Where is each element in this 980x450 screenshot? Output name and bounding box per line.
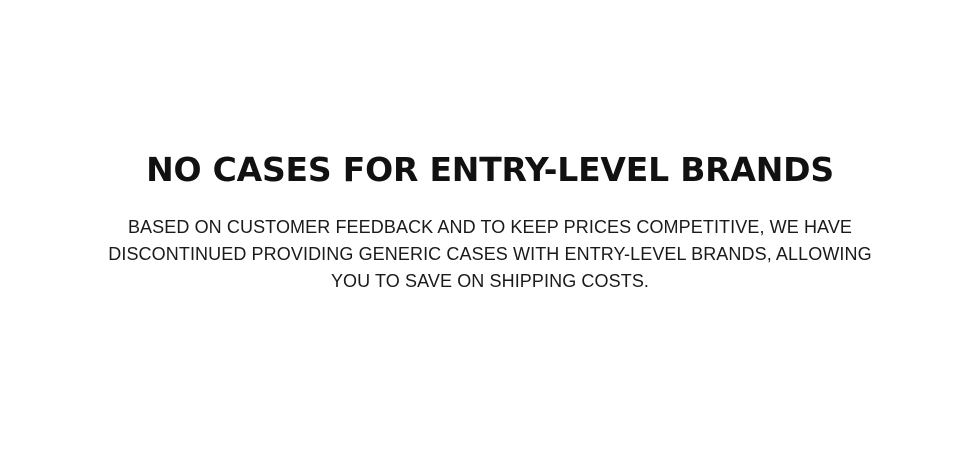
promo-section: NO CASES FOR ENTRY-LEVEL BRANDS BASED ON…	[0, 0, 980, 450]
promo-heading: NO CASES FOR ENTRY-LEVEL BRANDS	[60, 152, 920, 188]
promo-body-text: BASED ON CUSTOMER FEEDBACK AND TO KEEP P…	[90, 214, 890, 295]
